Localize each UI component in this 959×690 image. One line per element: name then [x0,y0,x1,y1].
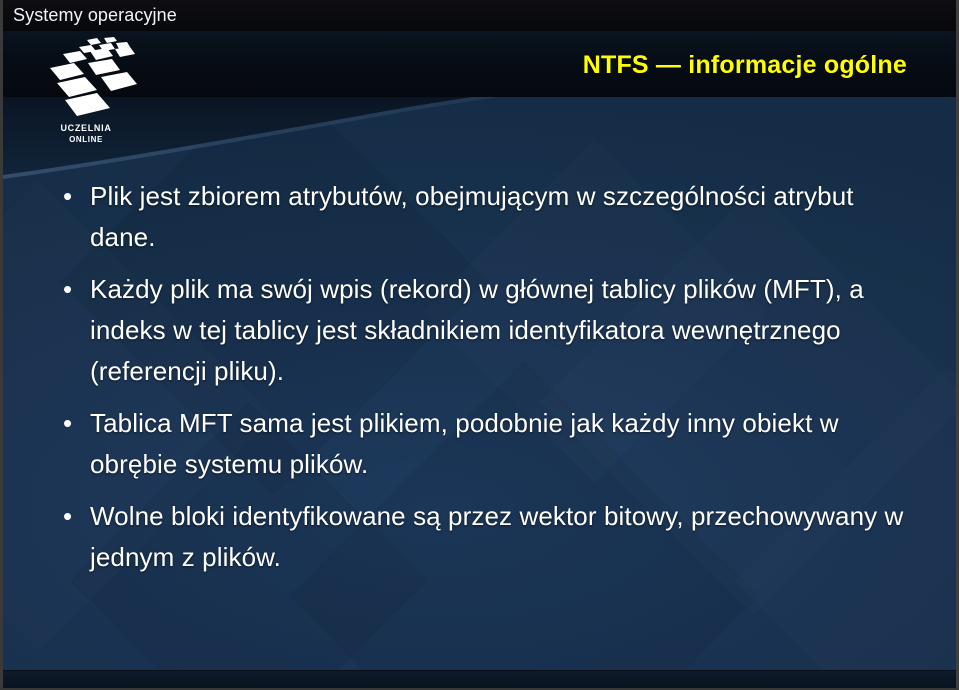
bullet-marker-icon: • [56,403,90,444]
uczelnia-online-logo: UCZELNIA ONLINE [27,36,145,148]
logo-name: UCZELNIA [60,123,111,133]
slide-title: NTFS — informacje ogólne [583,51,907,80]
logo-subtitle: ONLINE [27,134,145,146]
bullet-text: Wolne bloki identyfikowane są przez wekt… [90,496,918,578]
slide-body: • Plik jest zbiorem atrybutów, obejmując… [56,176,918,589]
logo-wordmark: UCZELNIA ONLINE [27,122,145,146]
bullet-item: • Plik jest zbiorem atrybutów, obejmując… [56,176,918,258]
bullet-item: • Każdy plik ma swój wpis (rekord) w głó… [56,269,918,392]
bullet-text: Tablica MFT sama jest plikiem, podobnie … [90,403,918,485]
bullet-marker-icon: • [56,269,90,310]
checkerboard-icon [27,36,145,124]
bullet-text: Plik jest zbiorem atrybutów, obejmującym… [90,176,918,258]
bullet-marker-icon: • [56,496,90,537]
bullet-text: Każdy plik ma swój wpis (rekord) w główn… [90,269,918,392]
presentation-slide: Systemy operacyjne NTFS — informacje ogó… [0,0,959,690]
bullet-item: • Wolne bloki identyfikowane są przez we… [56,496,918,578]
course-name-label: Systemy operacyjne [13,4,177,26]
bullet-marker-icon: • [56,176,90,217]
bullet-item: • Tablica MFT sama jest plikiem, podobni… [56,403,918,485]
footer-band [3,670,956,688]
